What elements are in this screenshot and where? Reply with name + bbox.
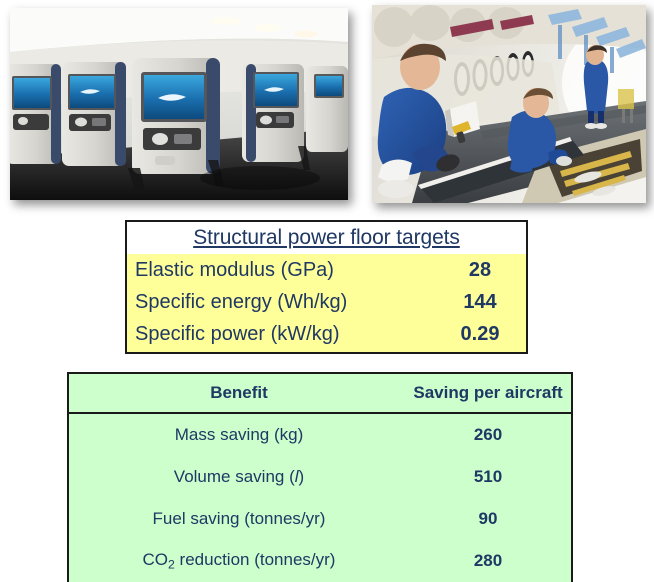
- target-table-body: Elastic modulus (GPa) 28 Specific energy…: [127, 254, 526, 352]
- benefits-saving-per-aircraft-table: Benefit Saving per aircraft Mass saving …: [67, 372, 573, 582]
- target-label-specific-energy: Specific energy (Wh/kg): [127, 291, 440, 314]
- benefit-label-fuel-saving: Fuel saving (tonnes/yr): [69, 509, 409, 529]
- benefit-label-co2-reduction: CO2 reduction (tonnes/yr): [69, 550, 409, 571]
- table-row: Volume saving (l) 510: [69, 456, 571, 498]
- benefit-value-co2-reduction: 280: [409, 551, 571, 571]
- target-value-specific-energy: 144: [440, 291, 526, 314]
- target-value-elastic-modulus: 28: [440, 259, 526, 282]
- benefit-label-volume-saving: Volume saving (l): [69, 467, 409, 487]
- structural-power-floor-targets-table: Structural power floor targets Elastic m…: [125, 220, 528, 354]
- column-header-benefit: Benefit: [69, 383, 409, 403]
- benefit-value-volume-saving: 510: [409, 467, 571, 487]
- target-table-title-row: Structural power floor targets: [127, 222, 526, 254]
- photo-row: [0, 0, 654, 212]
- column-header-saving-per-aircraft: Saving per aircraft: [409, 383, 571, 403]
- benefit-value-fuel-saving: 90: [409, 509, 571, 529]
- target-label-elastic-modulus: Elastic modulus (GPa): [127, 259, 440, 282]
- benefit-table-header-row: Benefit Saving per aircraft: [69, 374, 571, 414]
- benefit-value-mass-saving: 260: [409, 425, 571, 445]
- table-row: Specific energy (Wh/kg) 144: [127, 286, 526, 318]
- table-row: Elastic modulus (GPa) 28: [127, 254, 526, 286]
- table-row: Fuel saving (tonnes/yr) 90: [69, 498, 571, 540]
- target-value-specific-power: 0.29: [440, 323, 526, 346]
- floor-panel-installation-photo: [372, 5, 646, 203]
- aircraft-cabin-photo: [10, 8, 348, 200]
- page-title: Structural power floor targets: [193, 226, 460, 250]
- table-row: Mass saving (kg) 260: [69, 414, 571, 456]
- table-row: CO2 reduction (tonnes/yr) 280: [69, 540, 571, 582]
- table-row: Specific power (kW/kg) 0.29: [127, 318, 526, 350]
- benefit-label-mass-saving: Mass saving (kg): [69, 425, 409, 445]
- target-label-specific-power: Specific power (kW/kg): [127, 323, 440, 346]
